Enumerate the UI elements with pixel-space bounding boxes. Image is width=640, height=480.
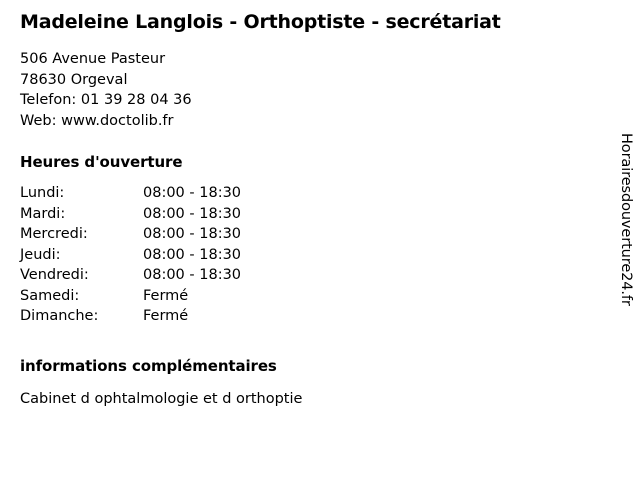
website-line: Web: www.doctolib.fr xyxy=(20,111,600,132)
hours-day-value: 08:00 - 18:30 xyxy=(143,224,241,245)
additional-information-text: Cabinet d ophtalmologie et d orthoptie xyxy=(20,389,600,410)
opening-hours-heading: Heures d'ouverture xyxy=(20,131,600,173)
page-root: Madeleine Langlois - Orthoptiste - secré… xyxy=(0,0,640,480)
contact-block: 506 Avenue Pasteur 78630 Orgeval Telefon… xyxy=(20,49,600,131)
address-line-1: 506 Avenue Pasteur xyxy=(20,49,600,70)
page-title: Madeleine Langlois - Orthoptiste - secré… xyxy=(20,0,600,32)
additional-information-heading: informations complémentaires xyxy=(20,327,600,375)
hours-day-label: Samedi: xyxy=(20,286,143,307)
hours-day-value: Fermé xyxy=(143,306,241,327)
hours-day-label: Lundi: xyxy=(20,183,143,204)
table-row: Mercredi: 08:00 - 18:30 xyxy=(20,224,241,245)
address-line-2: 78630 Orgeval xyxy=(20,70,600,91)
hours-day-label: Jeudi: xyxy=(20,245,143,266)
hours-day-label: Dimanche: xyxy=(20,306,143,327)
watermark-label: Horairesdouverture24.fr xyxy=(618,133,634,348)
main-content: Madeleine Langlois - Orthoptiste - secré… xyxy=(20,0,600,409)
hours-day-value: 08:00 - 18:30 xyxy=(143,183,241,204)
hours-day-label: Mercredi: xyxy=(20,224,143,245)
table-row: Dimanche: Fermé xyxy=(20,306,241,327)
table-row: Jeudi: 08:00 - 18:30 xyxy=(20,245,241,266)
hours-day-label: Mardi: xyxy=(20,204,143,225)
phone-line: Telefon: 01 39 28 04 36 xyxy=(20,90,600,111)
table-row: Samedi: Fermé xyxy=(20,286,241,307)
hours-day-value: 08:00 - 18:30 xyxy=(143,265,241,286)
hours-day-label: Vendredi: xyxy=(20,265,143,286)
hours-day-value: Fermé xyxy=(143,286,241,307)
opening-hours-table: Lundi: 08:00 - 18:30 Mardi: 08:00 - 18:3… xyxy=(20,183,241,327)
table-row: Vendredi: 08:00 - 18:30 xyxy=(20,265,241,286)
table-row: Lundi: 08:00 - 18:30 xyxy=(20,183,241,204)
hours-day-value: 08:00 - 18:30 xyxy=(143,204,241,225)
hours-day-value: 08:00 - 18:30 xyxy=(143,245,241,266)
opening-hours-body: Lundi: 08:00 - 18:30 Mardi: 08:00 - 18:3… xyxy=(20,183,241,327)
table-row: Mardi: 08:00 - 18:30 xyxy=(20,204,241,225)
